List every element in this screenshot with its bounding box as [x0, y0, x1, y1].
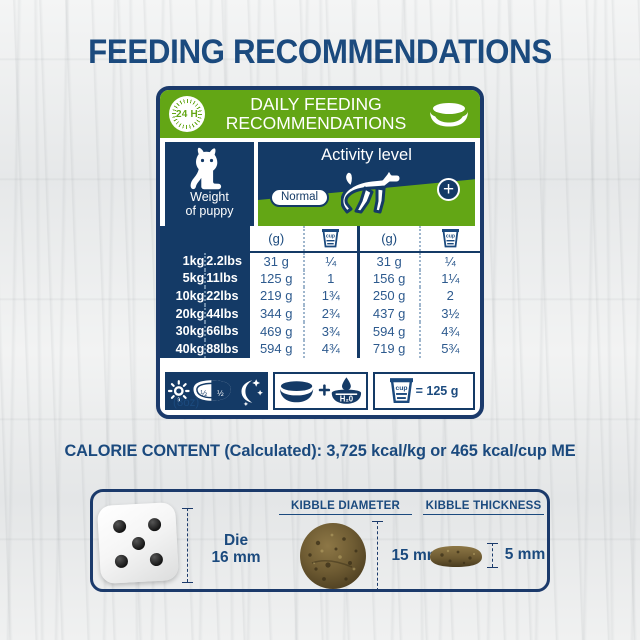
thickness-cap-top [487, 543, 498, 544]
table-row: 5kg 11lbs 125 g 1 156 g 1¼ [160, 270, 480, 288]
header-cup-normal: cup [304, 226, 358, 252]
table-row: 10kg 22lbs 219 g 1¾ 250 g 2 [160, 287, 480, 305]
card-header-title-line1: DAILY FEEDING [205, 95, 427, 114]
running-dog-icon [341, 168, 403, 214]
kibble-size-card: Die 16 mm KIBBLE DIAMETER 15 mm [90, 489, 550, 592]
cell-cup-high: 1¼ [420, 270, 480, 288]
cell-kg: 10kg [160, 287, 205, 305]
cell-kg: 40kg [160, 340, 205, 358]
die-measure-cap-top [182, 508, 193, 509]
cell-grams-normal: 219 g [250, 287, 304, 305]
die-measure-line [187, 508, 188, 582]
cell-cup-normal: ¼ [304, 252, 358, 270]
die-size-label: Die 16 mm [201, 532, 271, 566]
card-footer: ½ ½ [165, 372, 475, 410]
daily-feeding-card: 24 H DAILY FEEDING RECOMMENDATIONS Weigh… [156, 86, 484, 419]
card-header-title-line2: RECOMMENDATIONS [205, 114, 427, 133]
cell-grams-high: 250 g [358, 287, 419, 305]
cell-grams-high: 719 g [358, 340, 419, 358]
cell-cup-high: 4¾ [420, 322, 480, 340]
svg-text:½: ½ [217, 389, 224, 398]
kibble-top-view-icon [298, 521, 368, 591]
cup-ounces: (8oz) [173, 397, 199, 409]
cell-lbs: 22lbs [205, 287, 249, 305]
table-row: 20kg 44lbs 344 g 2¾ 437 g 3½ [160, 305, 480, 323]
clock-label: 24 H [169, 96, 205, 132]
diameter-cap-bottom [372, 591, 383, 592]
table-row: 1kg 2.2lbs 31 g ¼ 31 g ¼ [160, 252, 480, 270]
cell-cup-normal: 1 [304, 270, 358, 288]
cell-cup-normal: 1¾ [304, 287, 358, 305]
die-measure-cap-bottom [182, 582, 193, 583]
measuring-cup-icon: cup [442, 229, 459, 248]
diameter-measure-line [377, 521, 378, 591]
cup-equals-grams: = 125 g [416, 384, 459, 398]
svg-text:½: ½ [200, 389, 207, 398]
svg-text:cup: cup [326, 234, 335, 240]
plus-circle-icon: + [437, 178, 460, 201]
svg-text:cup: cup [446, 234, 455, 240]
page-title: FEEDING RECOMMENDATIONS [26, 33, 615, 72]
kibble-thickness-value: 5 mm [501, 546, 549, 563]
table-header-row: (g) cup (g) cup [160, 226, 480, 252]
cell-kg: 1kg [160, 252, 205, 270]
svg-text:H₂0: H₂0 [339, 395, 353, 404]
header-kg [160, 226, 205, 252]
cell-cup-high: ¼ [420, 252, 480, 270]
weight-header-line2: of puppy [186, 205, 234, 219]
activity-normal-pill[interactable]: Normal [270, 188, 329, 207]
cell-cup-normal: 2¾ [304, 305, 358, 323]
band-row: Weight of puppy Activity level Normal + [160, 138, 480, 226]
kibble-side-view-icon [426, 541, 486, 571]
cell-cup-normal: 4¾ [304, 340, 358, 358]
weight-header-line1: Weight [190, 191, 229, 205]
cell-lbs: 2.2lbs [205, 252, 249, 270]
thickness-cap-bottom [487, 567, 498, 568]
cell-lbs: 11lbs [205, 270, 249, 288]
measuring-cup-icon: cup [390, 378, 413, 404]
thickness-measure-line [492, 543, 493, 567]
cell-kg: 30kg [160, 322, 205, 340]
sitting-puppy-icon [187, 146, 233, 191]
die-label-line1: Die [201, 532, 271, 549]
cell-grams-high: 437 g [358, 305, 419, 323]
table-row: 30kg 66lbs 469 g 3¾ 594 g 4¾ [160, 322, 480, 340]
cup-equivalence-box: cup = 125 g (8oz) [373, 372, 475, 410]
food-bowl-icon [427, 101, 471, 127]
bowl-plus-water-graphic: H₂0 [278, 376, 364, 406]
measuring-cup-icon: cup [322, 229, 339, 248]
cell-cup-high: 2 [420, 287, 480, 305]
cell-lbs: 88lbs [205, 340, 249, 358]
dice-icon [97, 502, 179, 584]
kibble-diameter-heading: KIBBLE DIAMETER [279, 500, 412, 515]
cell-cup-high: 3½ [420, 305, 480, 323]
header-lbs [205, 226, 249, 252]
cell-grams-normal: 344 g [250, 305, 304, 323]
header-grams-high: (g) [358, 226, 419, 252]
water-availability-box: H₂0 [273, 372, 368, 410]
cell-cup-normal: 3¾ [304, 322, 358, 340]
card-header: 24 H DAILY FEEDING RECOMMENDATIONS [160, 90, 480, 138]
activity-level-title: Activity level [258, 142, 475, 165]
kibble-thickness-heading: KIBBLE THICKNESS [423, 500, 544, 515]
activity-level-panel: Activity level Normal + [258, 142, 475, 226]
weight-of-puppy-header: Weight of puppy [165, 142, 254, 226]
cell-cup-high: 5¾ [420, 340, 480, 358]
header-grams-normal: (g) [250, 226, 304, 252]
table-row: 40kg 88lbs 594 g 4¾ 719 g 5¾ [160, 340, 480, 358]
cell-grams-normal: 125 g [250, 270, 304, 288]
cell-kg: 5kg [160, 270, 205, 288]
cell-lbs: 66lbs [205, 322, 249, 340]
cell-grams-normal: 31 g [250, 252, 304, 270]
cell-kg: 20kg [160, 305, 205, 323]
feeding-table: (g) cup (g) cup [160, 226, 480, 358]
calorie-content-line: CALORIE CONTENT (Calculated): 3,725 kcal… [13, 441, 627, 461]
svg-text:cup: cup [395, 385, 407, 392]
cell-grams-normal: 594 g [250, 340, 304, 358]
24-hour-clock-icon: 24 H [169, 96, 205, 132]
diameter-cap-top [372, 521, 383, 522]
die-label-line2: 16 mm [201, 549, 271, 566]
card-header-title: DAILY FEEDING RECOMMENDATIONS [205, 95, 427, 133]
cell-grams-normal: 469 g [250, 322, 304, 340]
header-cup-high: cup [420, 226, 480, 252]
cell-grams-high: 31 g [358, 252, 419, 270]
cell-grams-high: 156 g [358, 270, 419, 288]
cell-grams-high: 594 g [358, 322, 419, 340]
cell-lbs: 44lbs [205, 305, 249, 323]
